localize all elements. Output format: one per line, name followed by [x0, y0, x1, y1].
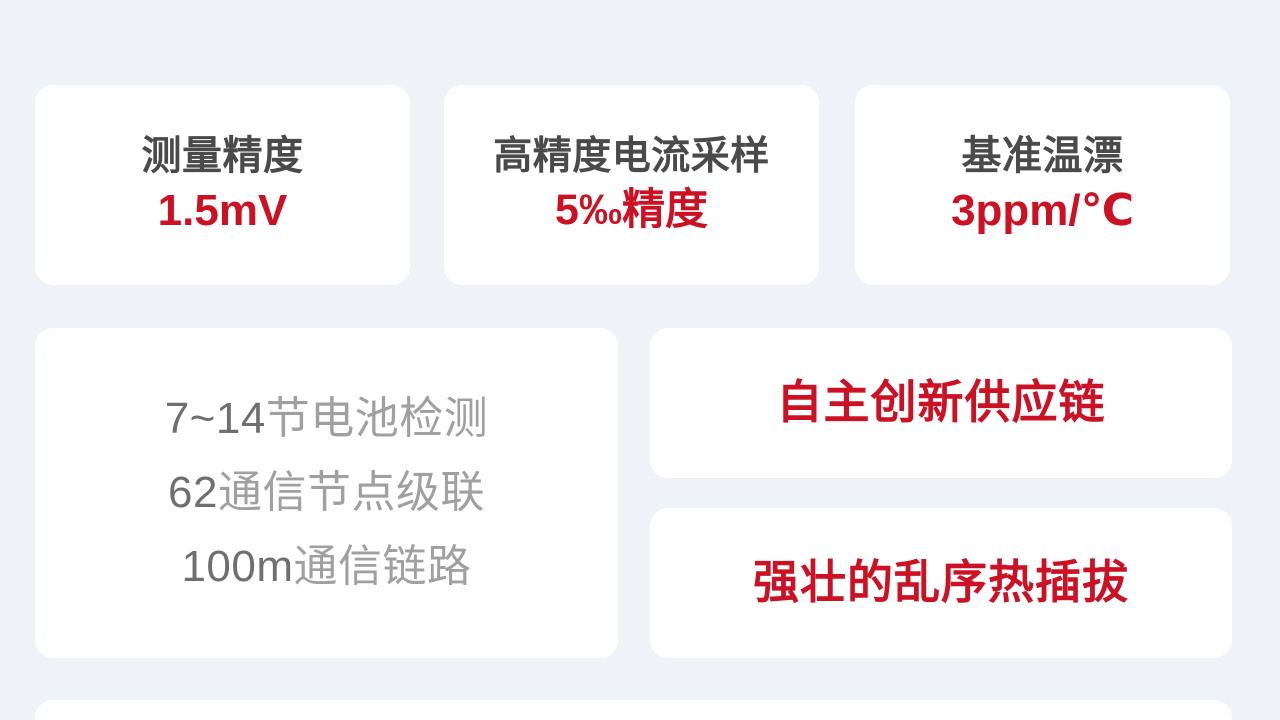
- stat-card-value: 5‰精度: [555, 184, 708, 236]
- spec-list-item: 7~14节电池检测: [165, 382, 489, 456]
- spec-list-item: 100m通信链路: [181, 530, 471, 604]
- feature-highlights-page: 测量精度 1.5mV 高精度电流采样 5‰精度 基准温漂 3ppm/℃ 7~14…: [0, 0, 1280, 720]
- highlight-card-text: 强壮的乱序热插拔: [753, 555, 1129, 610]
- highlight-card-hot-swap[interactable]: 强壮的乱序热插拔: [650, 508, 1232, 658]
- spec-list-item-number: 7~14: [165, 394, 266, 443]
- stat-card-title: 测量精度: [142, 133, 304, 180]
- stat-card-current-sampling[interactable]: 高精度电流采样 5‰精度: [444, 85, 819, 285]
- stat-card-reference-temp-drift[interactable]: 基准温漂 3ppm/℃: [855, 85, 1230, 285]
- highlight-card-text: 自主创新供应链: [777, 375, 1106, 430]
- stat-card-value: 3ppm/℃: [951, 184, 1134, 238]
- bottom-card-partial[interactable]: [35, 700, 1232, 720]
- spec-list-item-label: 通信链路: [294, 542, 472, 591]
- spec-list-card[interactable]: 7~14节电池检测 62通信节点级联 100m通信链路: [35, 328, 618, 658]
- highlight-card-supply-chain[interactable]: 自主创新供应链: [650, 328, 1232, 478]
- spec-list-item-number: 100m: [181, 542, 293, 591]
- spec-list-item-label: 节电池检测: [266, 394, 489, 443]
- stat-card-title: 基准温漂: [962, 133, 1124, 180]
- stat-card-title: 高精度电流采样: [493, 134, 770, 180]
- spec-list-item-label: 通信节点级联: [218, 468, 485, 517]
- spec-list-item: 62通信节点级联: [168, 456, 485, 530]
- stat-card-measurement-accuracy[interactable]: 测量精度 1.5mV: [35, 85, 410, 285]
- stat-card-value: 1.5mV: [158, 184, 288, 238]
- spec-list-item-number: 62: [168, 468, 218, 517]
